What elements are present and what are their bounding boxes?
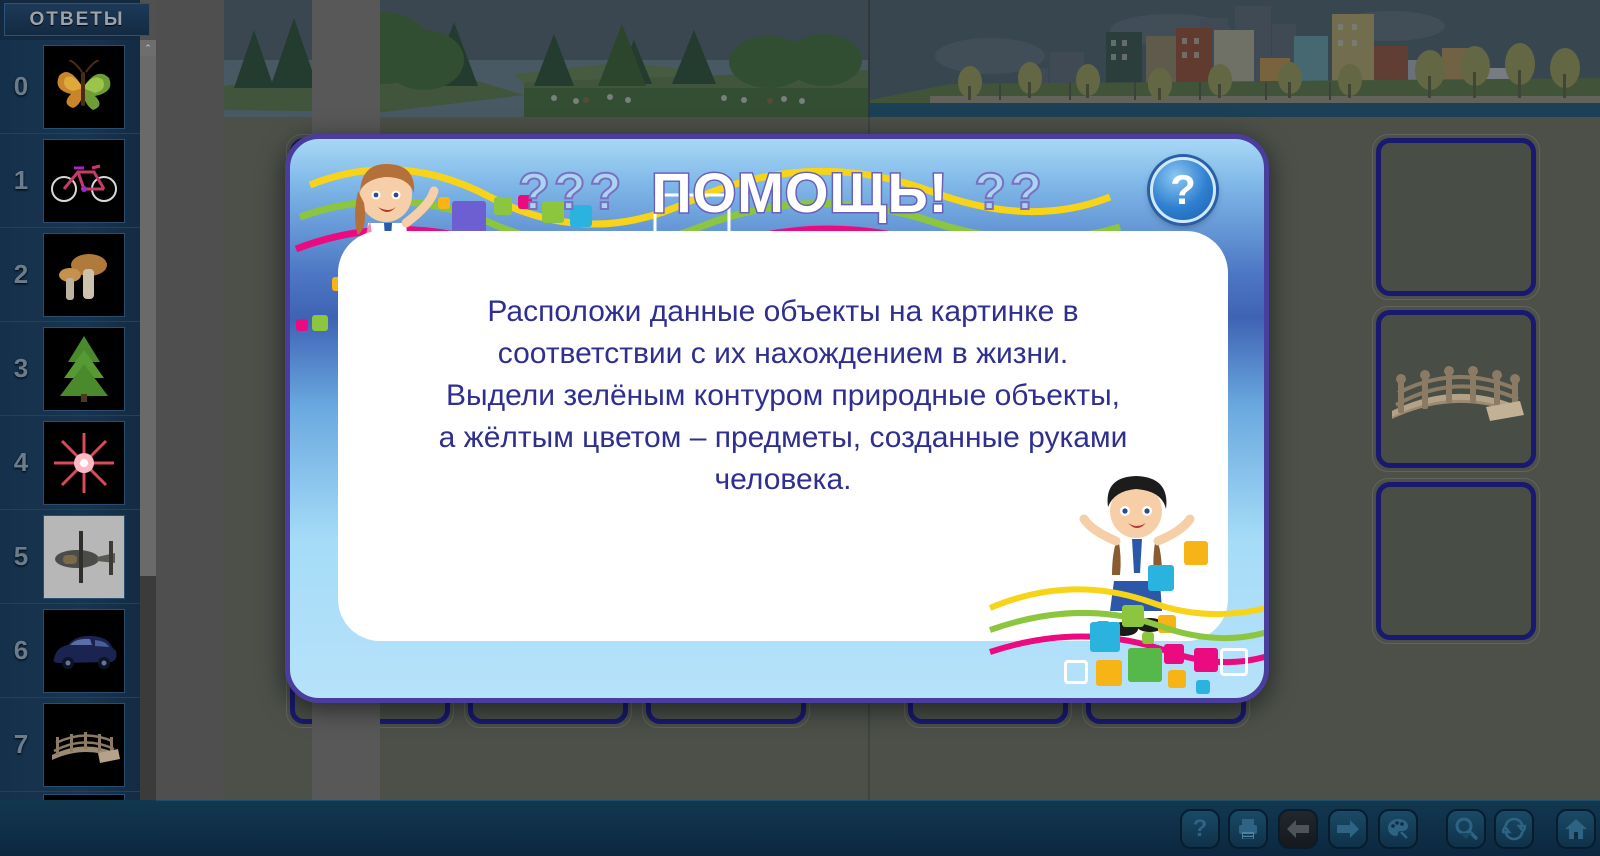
palette-button[interactable] xyxy=(1378,809,1418,849)
bottom-toolbar: ? xyxy=(156,800,1600,856)
list-item-index: 3 xyxy=(0,353,42,384)
decor-square xyxy=(1194,648,1218,672)
decor-square xyxy=(296,319,308,331)
decor-square xyxy=(1184,541,1208,565)
list-item-index: 4 xyxy=(0,447,42,478)
home-icon xyxy=(1564,817,1588,841)
fir-tree-icon xyxy=(56,334,112,404)
helicopter-thumb[interactable] xyxy=(43,515,125,599)
question-marks-left: ??? xyxy=(518,162,625,222)
list-item[interactable] xyxy=(0,792,140,800)
fir-tree-thumb[interactable] xyxy=(43,327,125,411)
arrow-left-icon xyxy=(1286,819,1310,839)
forward-button[interactable] xyxy=(1328,809,1368,849)
snowflake-thumb[interactable] xyxy=(43,421,125,505)
city-scene-panel xyxy=(870,0,1600,117)
question-marks-right: ?? xyxy=(974,162,1046,222)
help-badge-icon[interactable]: ? xyxy=(1150,157,1216,223)
bridge-thumb[interactable] xyxy=(43,703,125,787)
list-item-index: 1 xyxy=(0,165,42,196)
list-item[interactable]: 0 xyxy=(0,40,140,134)
back-button[interactable] xyxy=(1278,809,1318,849)
butterfly-icon xyxy=(53,60,115,114)
print-button[interactable] xyxy=(1228,809,1268,849)
help-button[interactable]: ? xyxy=(1180,809,1220,849)
decor-square xyxy=(1164,644,1184,664)
decor-square xyxy=(312,315,328,331)
decor-square xyxy=(1168,670,1186,688)
decor-square xyxy=(1196,680,1210,694)
snowflake-icon xyxy=(52,431,116,495)
arrow-right-icon xyxy=(1336,819,1360,839)
car-icon xyxy=(48,629,120,673)
scroll-up-arrow[interactable]: ⌃ xyxy=(140,40,156,56)
zoom-button[interactable] xyxy=(1446,809,1486,849)
decor-square xyxy=(1096,660,1122,686)
list-item[interactable]: 3 xyxy=(0,322,140,416)
list-item[interactable]: 1 xyxy=(0,134,140,228)
list-item[interactable]: 6 xyxy=(0,604,140,698)
list-item[interactable]: 7 xyxy=(0,698,140,792)
bridge-object-icon xyxy=(1386,349,1526,429)
answers-title: ОТВЕТЫ xyxy=(30,9,125,31)
slot-right-1[interactable] xyxy=(1376,138,1536,296)
magnifier-icon xyxy=(1454,817,1478,841)
refresh-icon xyxy=(1502,817,1526,841)
list-item[interactable]: 5 xyxy=(0,510,140,604)
application-window: ??? ПОМОЩЬ! ?? ? Расположи данные объект… xyxy=(0,0,1600,856)
helicopter-icon xyxy=(49,527,119,587)
question-mark-icon: ? xyxy=(1193,817,1208,841)
decor-square xyxy=(1128,648,1162,682)
printer-icon xyxy=(1236,817,1260,841)
dialog-title: ПОМОЩЬ! xyxy=(651,160,948,225)
toolbar-left-pad xyxy=(0,800,156,856)
decor-square xyxy=(1090,622,1120,652)
list-item-index: 5 xyxy=(0,541,42,572)
decor-square-outline xyxy=(1220,648,1248,676)
butterfly-thumb[interactable] xyxy=(43,45,125,129)
answers-header: ОТВЕТЫ xyxy=(4,3,150,36)
answers-list[interactable]: 0 1 xyxy=(0,40,140,800)
list-item[interactable]: 4 xyxy=(0,416,140,510)
list-item[interactable]: 2 xyxy=(0,228,140,322)
instruction-line: а жёлтым цветом – предметы, созданные ру… xyxy=(398,417,1168,459)
decor-square xyxy=(1142,632,1154,644)
decor-square-outline xyxy=(1064,660,1088,684)
home-button[interactable] xyxy=(1556,809,1596,849)
instruction-line: человека. xyxy=(398,459,1168,501)
instruction-line: Выдели зелёным контуром природные объект… xyxy=(398,375,1168,417)
refresh-button[interactable] xyxy=(1494,809,1534,849)
dialog-instruction-text: Расположи данные объекты на картинке в с… xyxy=(398,291,1168,501)
mushrooms-thumb[interactable] xyxy=(43,233,125,317)
slot-right-2[interactable] xyxy=(1376,310,1536,468)
list-item-index: 0 xyxy=(0,71,42,102)
mushrooms-icon xyxy=(55,245,113,305)
bicycle-thumb[interactable] xyxy=(43,139,125,223)
bicycle-icon xyxy=(50,158,118,204)
sidebar-scrollbar[interactable]: ⌃ ⌄ xyxy=(140,40,156,856)
instruction-line: Расположи данные объекты на картинке в xyxy=(398,291,1168,333)
help-dialog: ??? ПОМОЩЬ! ?? ? Расположи данные объект… xyxy=(285,134,1269,703)
bridge-icon xyxy=(48,723,120,767)
slot-right-3[interactable] xyxy=(1376,482,1536,640)
palette-icon xyxy=(1386,817,1410,841)
list-item-index: 7 xyxy=(0,729,42,760)
list-item-index: 2 xyxy=(0,259,42,290)
scrollbar-thumb[interactable] xyxy=(140,56,156,576)
ribbon-decoration-bottom xyxy=(290,568,1269,698)
car-thumb[interactable] xyxy=(43,609,125,693)
list-item-index: 6 xyxy=(0,635,42,666)
dialog-title-bar: ??? ПОМОЩЬ! ?? xyxy=(290,157,1269,227)
instruction-line: соответствии с их нахождением в жизни. xyxy=(398,333,1168,375)
answers-sidebar: ОТВЕТЫ 0 1 xyxy=(0,0,140,856)
